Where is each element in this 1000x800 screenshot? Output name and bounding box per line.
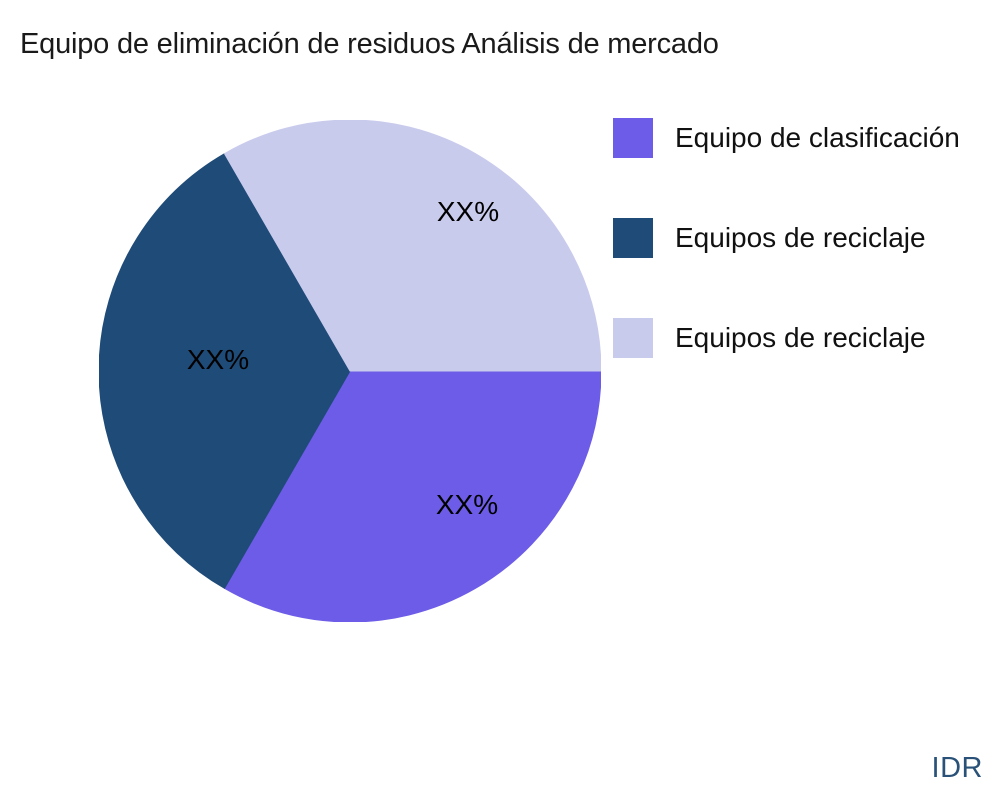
legend-item-label: Equipos de reciclaje <box>675 222 926 254</box>
legend-item[interactable]: Equipos de reciclaje <box>613 218 1000 258</box>
legend-color-swatch-icon <box>613 118 653 158</box>
pie-svg <box>99 120 601 622</box>
legend-item-label: Equipo de clasificación <box>675 122 960 154</box>
legend-item[interactable]: Equipos de reciclaje <box>613 318 1000 358</box>
legend-color-swatch-icon <box>613 218 653 258</box>
chart-legend: Equipo de clasificaciónEquipos de recicl… <box>613 118 1000 418</box>
legend-item[interactable]: Equipo de clasificación <box>613 118 1000 158</box>
pie-chart-figure: Equipo de eliminación de residuos Anális… <box>0 0 1000 800</box>
watermark-idr: IDR <box>932 752 983 785</box>
pie-slice-group <box>99 120 601 622</box>
chart-title: Equipo de eliminación de residuos Anális… <box>20 24 719 64</box>
pie-plot-area: XX%XX%XX% <box>99 120 601 622</box>
legend-item-label: Equipos de reciclaje <box>675 322 926 354</box>
legend-color-swatch-icon <box>613 318 653 358</box>
